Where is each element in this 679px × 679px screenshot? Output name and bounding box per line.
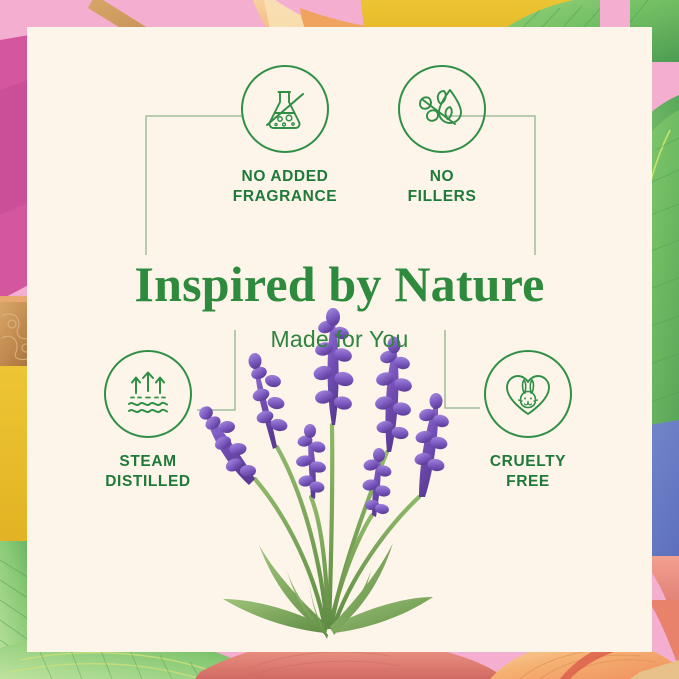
- badge-circle: [104, 350, 192, 438]
- badge-label: NO FILLERS: [357, 167, 527, 208]
- bunny-heart-icon: [501, 367, 555, 421]
- badge-no-fillers: NO FILLERS: [357, 65, 527, 208]
- badge-cruelty-free: CRUELTY FREE: [443, 350, 613, 493]
- flask-slash-icon: [258, 82, 312, 136]
- headline-block: Inspired by Nature Made for You: [27, 259, 652, 353]
- badge-circle: [241, 65, 329, 153]
- droplet-leaf-icon: [415, 82, 469, 136]
- content-panel: NO ADDED FRAGRANCE NO FILLERS: [27, 27, 652, 652]
- page-title: Inspired by Nature: [27, 259, 652, 309]
- page-subtitle: Made for You: [27, 326, 652, 353]
- badge-label: NO ADDED FRAGRANCE: [200, 167, 370, 208]
- steam-waves-icon: [121, 367, 175, 421]
- badge-circle: [398, 65, 486, 153]
- badge-no-added-fragrance: NO ADDED FRAGRANCE: [200, 65, 370, 208]
- badge-circle: [484, 350, 572, 438]
- badge-steam-distilled: STEAM DISTILLED: [63, 350, 233, 493]
- badge-label: CRUELTY FREE: [443, 452, 613, 493]
- badge-label: STEAM DISTILLED: [63, 452, 233, 493]
